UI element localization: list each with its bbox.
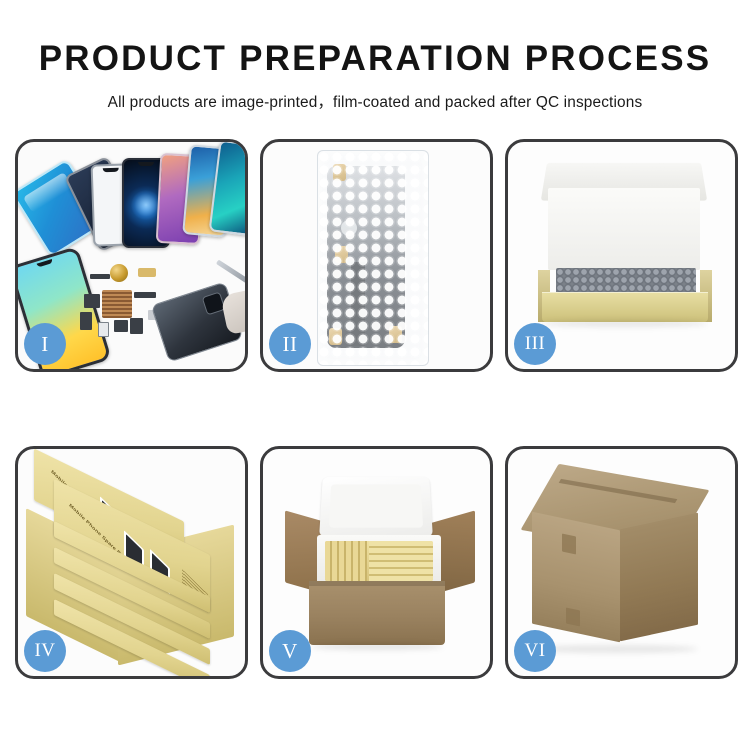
small-part-bar [90,274,110,279]
gold-connector-part [138,268,156,277]
process-steps-grid: I II [15,139,735,679]
copper-mesh-part [102,290,132,318]
step-badge-2: II [269,323,311,365]
notch-shape [37,259,53,268]
step-badge-4: IV [24,630,66,672]
page-title: PRODUCT PREPARATION PROCESS [0,40,750,79]
tweezers-tool-image [216,260,245,286]
carton-shadow [311,643,443,650]
packed-boxes-vertical [325,541,367,581]
foam-lid-image [319,477,433,537]
bubble-wrap-image [317,150,429,366]
process-step-1: I [15,139,248,372]
tape-strip-upper [562,534,576,555]
step-badge-3: III [514,323,556,365]
process-step-3: III [505,139,738,372]
packed-boxes-horizontal [369,541,433,581]
small-part-a [80,312,92,330]
notch-shape [103,168,119,173]
box-front-panel [542,292,708,322]
step-badge-5: V [269,630,311,672]
process-step-2: II [260,139,493,372]
process-step-6: VI [505,446,738,679]
white-foam-sheet-image [548,188,700,270]
process-step-4: Mobile Phone Spare Parts Mobile Phone Sp… [15,446,248,679]
small-part-b [114,320,128,332]
small-part-c [130,318,143,334]
carton-shadow [534,645,698,653]
page-subtitle: All products are image-printed，film-coat… [0,90,750,112]
product-preparation-infographic: PRODUCT PREPARATION PROCESS All products… [0,0,750,750]
box-shadow [542,320,708,327]
packed-boxes-image [325,541,433,581]
carton-body-image [309,581,445,645]
sim-tray-part [98,322,109,337]
ribbon-part [134,292,156,298]
header: PRODUCT PREPARATION PROCESS All products… [0,0,750,112]
notch-shape [138,162,154,166]
bracket-part [84,294,100,308]
process-step-5: V [260,446,493,679]
tape-strip-lower [566,608,580,627]
box-stack-image: Mobile Phone Spare Parts Mobile Phone Sp… [24,467,240,659]
step-badge-1: I [24,323,66,365]
carton-right-face [620,513,698,642]
step-badge-6: VI [514,630,556,672]
gold-coil-part [110,264,128,282]
